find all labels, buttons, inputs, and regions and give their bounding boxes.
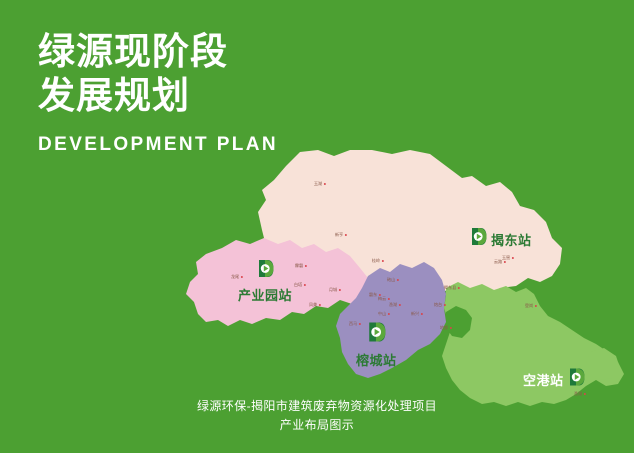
caption-line-2: 产业布局图示 xyxy=(0,416,634,435)
green-leaf-logo-icon xyxy=(568,366,585,393)
station-chanyeyuan-label: 产业园站 xyxy=(238,285,292,304)
station-chanyeyuan[interactable]: 产业园站 xyxy=(238,258,292,304)
station-rongcheng[interactable]: 榕城站 xyxy=(356,320,397,369)
green-leaf-logo-icon xyxy=(257,258,274,284)
station-konggang[interactable]: 空港站 xyxy=(523,366,585,393)
station-jiedong[interactable]: 揭东站 xyxy=(470,226,532,252)
station-konggang-label: 空港站 xyxy=(523,370,564,389)
caption-line-1: 绿源环保-揭阳市建筑废弃物资源化处理项目 xyxy=(0,397,634,416)
station-jiedong-label: 揭东站 xyxy=(491,230,532,249)
poster-canvas: 绿源现阶段 发展规划 DEVELOPMENT PLAN 揭东站 产业园站 xyxy=(0,0,634,453)
green-leaf-logo-icon xyxy=(470,226,487,252)
station-rongcheng-label: 榕城站 xyxy=(356,350,397,369)
green-leaf-logo-icon xyxy=(367,320,386,349)
caption-block: 绿源环保-揭阳市建筑废弃物资源化处理项目 产业布局图示 xyxy=(0,397,634,435)
